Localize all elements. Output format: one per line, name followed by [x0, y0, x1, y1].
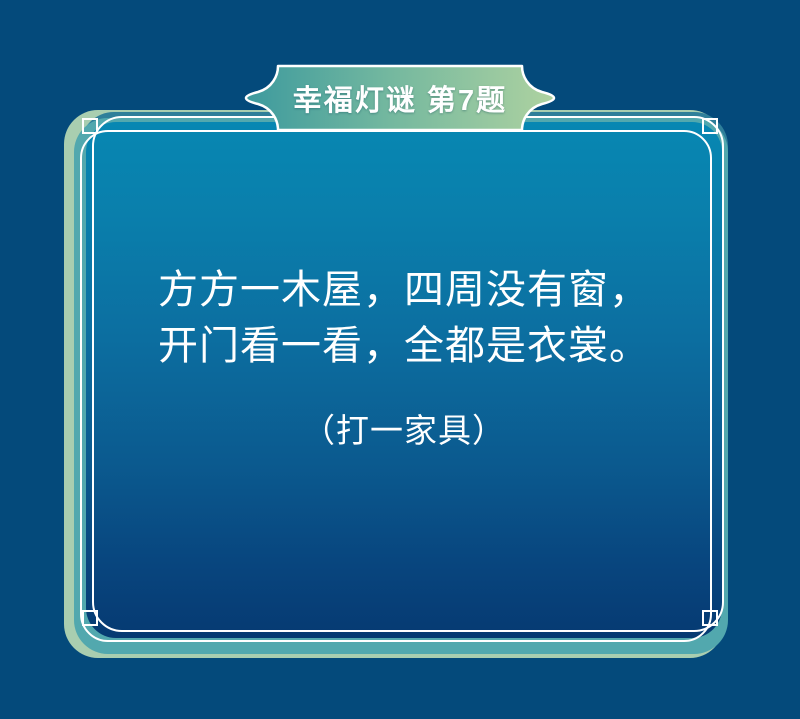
title-ribbon: 幸福灯谜 第7题 — [222, 62, 578, 134]
riddle-poster: 方方一木屋，四周没有窗， 开门看一看，全都是衣裳。 （打一家具） 幸福灯谜 第7… — [0, 0, 800, 719]
riddle-line-2: 开门看一看，全都是衣裳。 — [158, 318, 650, 374]
riddle-text-block: 方方一木屋，四周没有窗， 开门看一看，全都是衣裳。 （打一家具） — [86, 122, 722, 638]
riddle-hint: （打一家具） — [302, 408, 506, 454]
ribbon-title-text: 幸福灯谜 第7题 — [222, 62, 578, 134]
riddle-line-1: 方方一木屋，四周没有窗， — [158, 262, 650, 318]
